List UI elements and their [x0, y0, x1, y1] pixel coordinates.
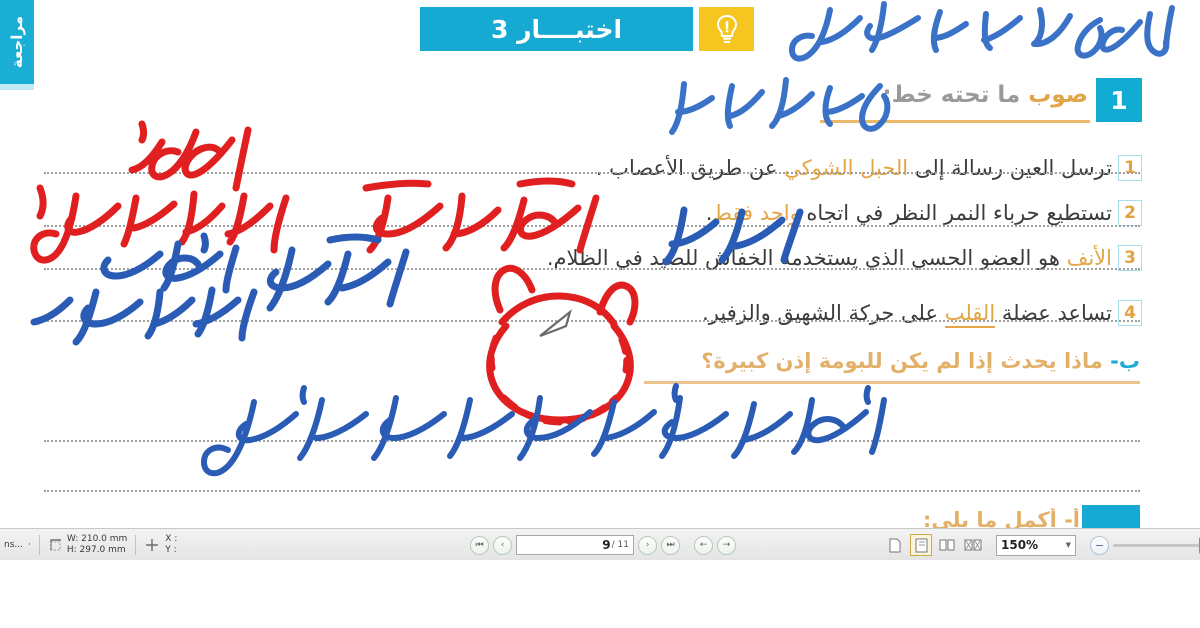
handwriting-left-blue-1	[104, 236, 236, 290]
crosshair-icon	[144, 537, 160, 553]
page-current: 9	[602, 538, 610, 552]
answer-line	[44, 490, 1140, 492]
list-item: 4تساعد عضلة القلب على حركة الشهيق والزفي…	[648, 300, 1142, 326]
item-highlight: واحد فقط	[712, 201, 799, 225]
zoom-slider[interactable]	[1113, 536, 1200, 554]
two-page-cover-view-icon[interactable]	[962, 534, 984, 556]
answer-line	[44, 225, 1140, 227]
cursor-x-label: X :	[165, 534, 177, 545]
handwriting-left-blue-2	[34, 290, 254, 342]
first-page-icon[interactable]: ⏮	[470, 536, 489, 555]
status-bar[interactable]: ns... · W: 210.0 mm H: 297.0 mm	[0, 528, 1200, 562]
continuous-page-view-icon[interactable]	[910, 534, 932, 556]
two-page-view-icon[interactable]	[936, 534, 958, 556]
question-b-marker: ب-	[1110, 349, 1140, 373]
zoom-level-dropdown[interactable]: 150% ▼	[996, 535, 1076, 556]
list-item: 2تستطيع حرباء النمر النظر في اتجاه واحد …	[600, 200, 1142, 226]
item-text-post: عن طريق الأعصاب .	[596, 156, 784, 180]
application-window: مراجعة اختبــــار 3 1 صوب ما تحته خط: 1	[0, 0, 1200, 628]
question-b-text: ماذا يحدث إذا لم يكن للبومة إذن كبيرة؟	[701, 349, 1110, 373]
side-tab-shadow	[0, 84, 34, 90]
question-1-number-text: 1	[1110, 86, 1127, 115]
question-1-underline	[820, 120, 1090, 123]
next-page-icon[interactable]: ›	[638, 536, 657, 555]
cursor-arrow-icon	[540, 312, 570, 336]
side-tab-review[interactable]: مراجعة	[0, 0, 34, 84]
item-highlight: الأنف	[1067, 246, 1112, 270]
test-title-banner: اختبــــار 3	[420, 7, 693, 51]
page-height-label: H: 297.0 mm	[67, 545, 127, 556]
back-arrow-icon[interactable]: ←	[694, 536, 713, 555]
status-divider	[39, 535, 40, 555]
status-bar-left-group: ns... · W: 210.0 mm H: 297.0 mm	[0, 529, 177, 561]
question-b-prompt: ب- ماذا يحدث إذا لم يكن للبومة إذن كبيرة…	[640, 349, 1140, 381]
chevron-down-icon: ▼	[1066, 541, 1071, 549]
previous-page-icon[interactable]: ‹	[493, 536, 512, 555]
item-number: 4	[1118, 300, 1142, 326]
page-navigation[interactable]: ⏮ ‹ 9 / 11 › ⏭ ← →	[470, 529, 736, 561]
cursor-y-label: Y :	[165, 545, 177, 556]
item-text-pre: تستطيع حرباء النمر النظر في اتجاه	[800, 201, 1112, 225]
answer-line	[44, 320, 1140, 322]
zoom-controls[interactable]: 150% ▼ − +	[884, 529, 1200, 561]
handwriting-left-red-1	[132, 124, 248, 188]
page-size-indicator: W: 210.0 mm H: 297.0 mm	[48, 534, 127, 556]
handwriting-answer-blue	[204, 386, 884, 473]
question-1-prompt: صوب ما تحته خط:	[600, 82, 1088, 118]
item-text-post: هو العضو الحسي الذي يستخدمه الخفاش للصيد…	[547, 246, 1067, 270]
red-owl-head-sketch	[490, 268, 635, 422]
forward-arrow-icon[interactable]: →	[717, 536, 736, 555]
item-highlight: الحبل الشوكي	[784, 156, 908, 180]
item-number: 1	[1118, 155, 1142, 181]
page-total: / 11	[612, 540, 629, 550]
lightbulb-icon	[699, 7, 754, 51]
page-width-label: W: 210.0 mm	[67, 534, 127, 545]
question-1-rest: ما تحته خط:	[882, 82, 1028, 108]
answer-line	[44, 440, 1140, 442]
single-page-view-icon[interactable]	[884, 534, 906, 556]
side-tab-label: مراجعة	[8, 16, 26, 68]
page-number-input[interactable]: 9 / 11	[516, 535, 634, 555]
window-bottom-area	[0, 560, 1200, 628]
item-number: 2	[1118, 200, 1142, 226]
answer-line	[44, 172, 1140, 174]
zoom-out-icon[interactable]: −	[1090, 536, 1109, 555]
cursor-position-indicator: X : Y :	[144, 534, 177, 556]
question-b-underline	[644, 381, 1140, 384]
answer-line	[44, 268, 1140, 270]
handwriting-top-blue	[792, 4, 1172, 59]
zoom-level-value: 150%	[1001, 538, 1038, 552]
item-highlight: القلب	[945, 301, 995, 328]
handwriting-mid-blue-2	[270, 237, 406, 308]
question-1-accent-word: صوب	[1028, 82, 1088, 108]
list-item: 1ترسل العين رسالة إلى الحبل الشوكي عن طر…	[530, 155, 1142, 181]
question-1-number: 1	[1096, 78, 1142, 122]
last-page-icon[interactable]: ⏭	[661, 536, 680, 555]
status-left-label[interactable]: ns...	[4, 540, 23, 550]
handwriting-mid-red	[366, 181, 596, 250]
page-size-icon	[48, 537, 64, 553]
zoom-slider-track	[1113, 544, 1200, 547]
question-2-partial-label: أ- أكمل ما يلي:	[880, 508, 1080, 528]
status-divider	[135, 535, 136, 555]
document-page[interactable]: مراجعة اختبــــار 3 1 صوب ما تحته خط: 1	[0, 0, 1200, 528]
item-text-pre: ترسل العين رسالة إلى	[908, 156, 1112, 180]
status-left-caret[interactable]: ·	[28, 540, 31, 550]
question-2-number	[1082, 505, 1140, 528]
test-title-text: اختبــــار 3	[491, 15, 622, 44]
